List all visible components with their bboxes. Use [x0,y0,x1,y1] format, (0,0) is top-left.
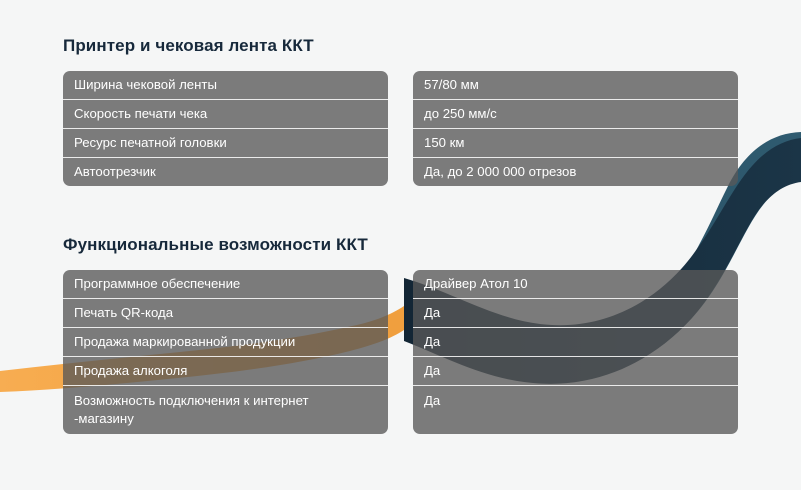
spec-value: Да [424,304,440,322]
spec-value: Драйвер Атол 10 [424,275,528,293]
table-row: Да [413,386,738,434]
section-features: Функциональные возможности ККТ Программн… [63,235,739,434]
table-row: Ширина чековой ленты [63,71,388,100]
table-row: Программное обеспечение [63,270,388,299]
section-features-labels-column: Программное обеспечение Печать QR-кода П… [63,270,388,434]
spec-value: до 250 мм/с [424,105,497,123]
table-row: Да [413,328,738,357]
spec-label-line1: Возможность подключения к интернет [74,393,309,408]
spec-value: Да [424,333,440,351]
spec-label: Возможность подключения к интернет -мага… [74,392,309,428]
spec-value: Да [424,362,440,380]
section-features-title: Функциональные возможности ККТ [63,235,739,255]
page-root: Принтер и чековая лента ККТ Ширина чеков… [0,0,801,490]
spec-label: Автоотрезчик [74,163,156,181]
section-printer-table: Ширина чековой ленты Скорость печати чек… [63,71,739,186]
table-row: Автоотрезчик [63,158,388,186]
section-features-table: Программное обеспечение Печать QR-кода П… [63,270,739,434]
spec-label: Ресурс печатной головки [74,134,227,152]
table-row: Скорость печати чека [63,100,388,129]
table-row: Продажа маркированной продукции [63,328,388,357]
spec-value: 150 км [424,134,465,152]
content-area: Принтер и чековая лента ККТ Ширина чеков… [0,0,801,490]
table-row: 150 км [413,129,738,158]
section-printer-labels-column: Ширина чековой ленты Скорость печати чек… [63,71,388,186]
spec-value: Да [424,392,440,410]
table-row: Ресурс печатной головки [63,129,388,158]
section-features-values-column: Драйвер Атол 10 Да Да Да Да [413,270,738,434]
spec-value: Да, до 2 000 000 отрезов [424,163,576,181]
table-row: Да, до 2 000 000 отрезов [413,158,738,186]
spec-label: Скорость печати чека [74,105,207,123]
spec-label-line2: -магазину [74,410,309,428]
table-row: 57/80 мм [413,71,738,100]
spec-label: Программное обеспечение [74,275,240,293]
table-row: Продажа алкоголя [63,357,388,386]
spec-label: Продажа маркированной продукции [74,333,295,351]
section-printer: Принтер и чековая лента ККТ Ширина чеков… [63,36,739,186]
section-printer-values-column: 57/80 мм до 250 мм/с 150 км Да, до 2 000… [413,71,738,186]
table-row: до 250 мм/с [413,100,738,129]
spec-label: Печать QR-кода [74,304,173,322]
table-row: Печать QR-кода [63,299,388,328]
spec-value: 57/80 мм [424,76,479,94]
table-row: Да [413,299,738,328]
table-row: Да [413,357,738,386]
table-row: Драйвер Атол 10 [413,270,738,299]
table-row: Возможность подключения к интернет -мага… [63,386,388,434]
section-printer-title: Принтер и чековая лента ККТ [63,36,739,56]
spec-label: Ширина чековой ленты [74,76,217,94]
spec-label: Продажа алкоголя [74,362,187,380]
